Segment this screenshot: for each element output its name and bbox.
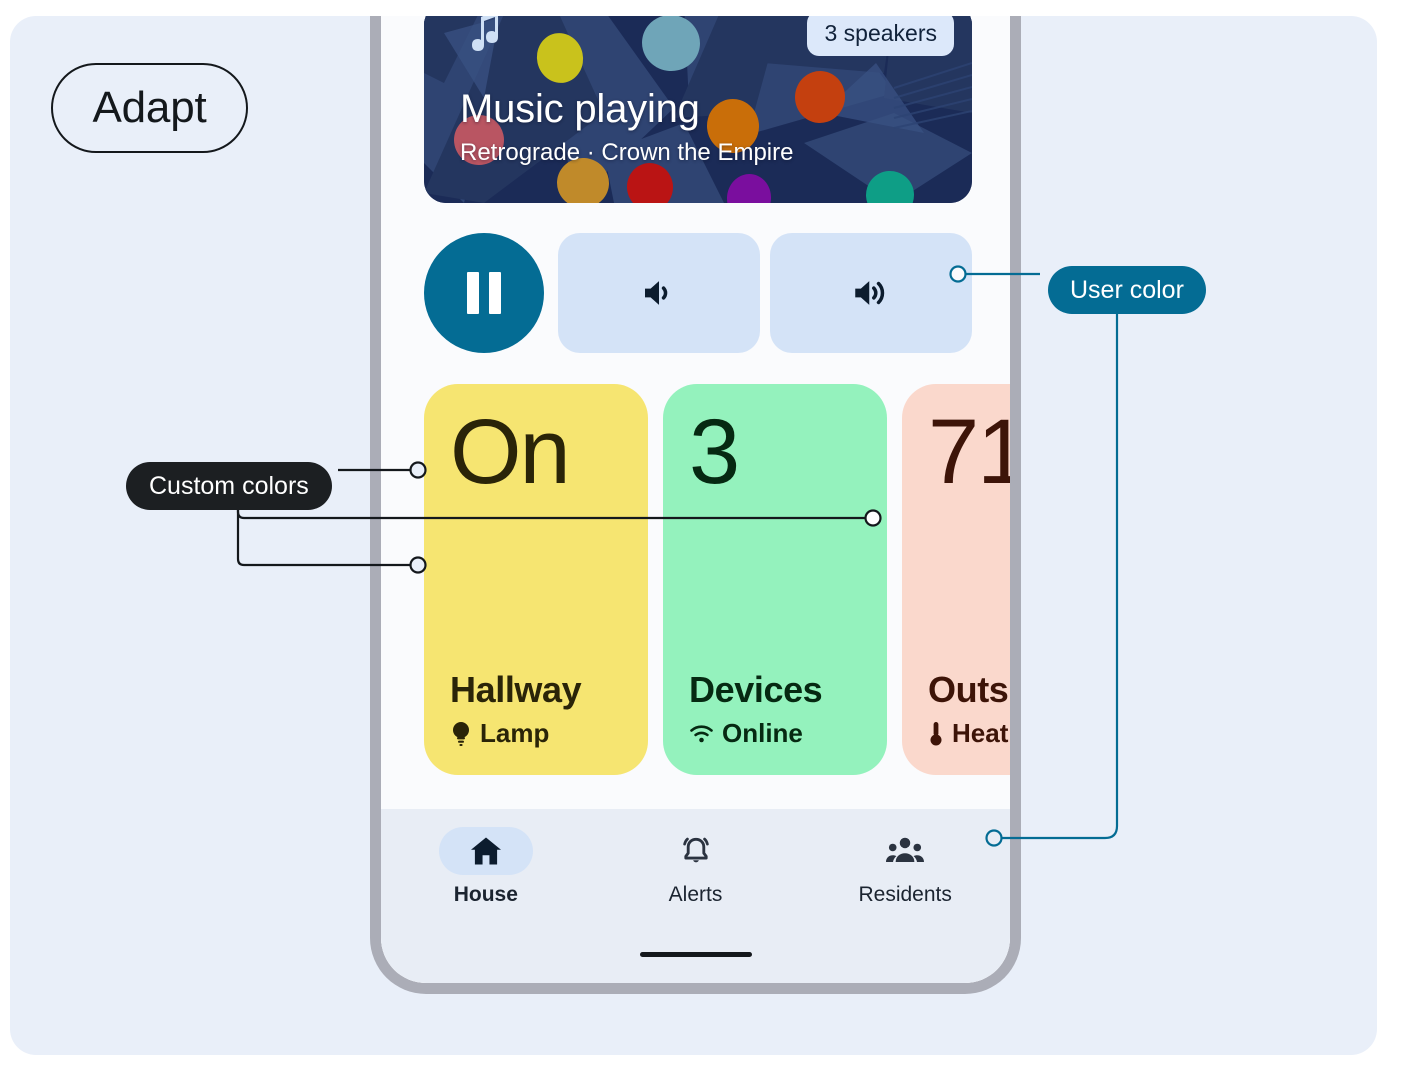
tile-title: Devices <box>689 669 861 711</box>
tile-status-label: Lamp <box>480 718 549 749</box>
tile-hallway[interactable]: On Hallway Lamp <box>424 384 648 775</box>
tile-outside[interactable]: 71 Outside Heating <box>902 384 1010 775</box>
volume-down-button[interactable] <box>558 233 760 353</box>
tile-value: On <box>450 406 622 498</box>
screenshot-root: Adapt <box>0 0 1421 1070</box>
speakers-badge: 3 speakers <box>807 16 954 56</box>
nav-label: Residents <box>858 883 951 907</box>
adapt-button[interactable]: Adapt <box>51 63 248 153</box>
lightbulb-icon <box>450 721 472 747</box>
tile-value: 71 <box>928 406 1010 498</box>
phone-mockup: 3 speakers Music playing Retrograde · Cr… <box>370 16 1021 994</box>
annotation-label: Custom colors <box>149 472 309 501</box>
bell-ring-icon <box>678 833 714 869</box>
pause-icon <box>467 272 501 314</box>
tile-value: 3 <box>689 406 861 498</box>
nav-label: House <box>454 883 518 907</box>
nav-item-residents[interactable]: Residents <box>800 827 1010 907</box>
volume-low-icon <box>638 272 680 314</box>
phone-screen: 3 speakers Music playing Retrograde · Cr… <box>381 16 1010 983</box>
wifi-icon <box>689 724 714 744</box>
tile-status-label: Heating <box>952 718 1010 749</box>
volume-up-button[interactable] <box>770 233 972 353</box>
music-note-icon <box>468 16 504 61</box>
media-subtitle: Retrograde · Crown the Empire <box>460 139 793 167</box>
media-title: Music playing <box>460 87 700 132</box>
nav-item-house[interactable]: House <box>381 827 591 907</box>
volume-high-icon <box>850 272 892 314</box>
tile-title: Outside <box>928 669 1010 711</box>
annotation-custom-colors[interactable]: Custom colors <box>126 462 332 510</box>
tile-devices[interactable]: 3 Devices Online <box>663 384 887 775</box>
nav-label: Alerts <box>669 883 723 907</box>
tile-status-label: Online <box>722 718 803 749</box>
dashboard-tiles: On Hallway Lamp <box>424 384 1010 775</box>
nav-active-pill <box>439 827 533 875</box>
bottom-navigation: House Alerts <box>381 809 1010 983</box>
annotation-label: User color <box>1070 276 1184 305</box>
people-icon <box>886 834 924 868</box>
tile-title: Hallway <box>450 669 622 711</box>
tile-footer: Devices Online <box>689 669 861 749</box>
adapt-button-label: Adapt <box>93 83 207 133</box>
tile-footer: Hallway Lamp <box>450 669 622 749</box>
annotation-user-color[interactable]: User color <box>1048 266 1206 314</box>
media-card[interactable]: 3 speakers Music playing Retrograde · Cr… <box>424 16 972 203</box>
thermometer-icon <box>928 721 944 747</box>
tile-status: Heating <box>928 718 1010 749</box>
nav-icon-wrap <box>649 827 743 875</box>
home-icon <box>468 833 504 869</box>
nav-icon-wrap <box>858 827 952 875</box>
tile-status: Online <box>689 718 861 749</box>
nav-item-alerts[interactable]: Alerts <box>591 827 801 907</box>
pause-button[interactable] <box>424 233 544 353</box>
media-transport-controls <box>424 233 972 353</box>
nav-items: House Alerts <box>381 809 1010 907</box>
design-canvas: Adapt <box>10 16 1377 1055</box>
tile-status: Lamp <box>450 718 622 749</box>
tile-footer: Outside Heating <box>928 669 1010 749</box>
home-indicator <box>640 952 752 957</box>
